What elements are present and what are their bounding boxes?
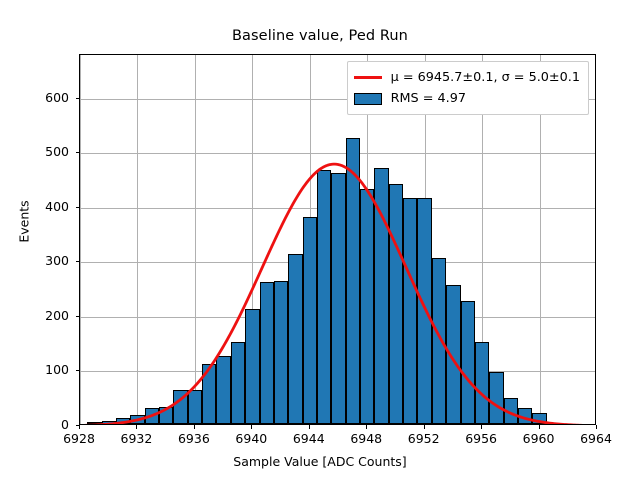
x-tick-mark [251, 425, 252, 429]
histogram-bar [102, 421, 116, 424]
x-tick-mark [136, 425, 137, 429]
x-tick-label: 6944 [279, 431, 339, 446]
histogram-bar [130, 415, 144, 424]
histogram-bar [461, 301, 475, 424]
x-tick-mark [79, 425, 80, 429]
page-title: Baseline value, Ped Run [0, 28, 640, 44]
line-swatch-icon [354, 76, 382, 79]
legend-item-histogram: RMS = 4.97 [354, 88, 580, 109]
histogram-bar [417, 198, 431, 424]
x-tick-mark [366, 425, 367, 429]
legend-label-histogram: RMS = 4.97 [391, 91, 466, 106]
x-axis-label: Sample Value [ADC Counts] [0, 454, 640, 469]
y-tick-mark [76, 370, 80, 371]
histogram-bar [475, 342, 489, 424]
x-tick-label: 6940 [221, 431, 281, 446]
histogram-bar [202, 364, 216, 424]
histogram-bar [518, 408, 532, 424]
legend: μ = 6945.7±0.1, σ = 5.0±0.1 RMS = 4.97 [347, 61, 589, 115]
y-tick-label: 100 [9, 362, 69, 377]
histogram-bar [274, 281, 288, 424]
x-tick-mark [539, 425, 540, 429]
legend-label-fit: μ = 6945.7±0.1, σ = 5.0±0.1 [391, 70, 580, 85]
x-tick-mark [194, 425, 195, 429]
x-tick-label: 6948 [336, 431, 396, 446]
x-tick-mark [424, 425, 425, 429]
histogram-bar [532, 413, 546, 424]
histogram-bar [145, 408, 159, 424]
histogram-bar [245, 309, 259, 424]
y-tick-label: 0 [9, 417, 69, 432]
histogram-bar [489, 372, 503, 424]
x-tick-mark [309, 425, 310, 429]
x-tick-mark [596, 425, 597, 429]
histogram-bar [389, 184, 403, 424]
histogram-bar [432, 258, 446, 424]
histogram-bar [374, 168, 388, 424]
x-tick-label: 6932 [106, 431, 166, 446]
x-tick-label: 6936 [164, 431, 224, 446]
histogram-bar [231, 342, 245, 424]
y-tick-mark [76, 152, 80, 153]
y-tick-mark [76, 98, 80, 99]
y-tick-mark [76, 207, 80, 208]
histogram-bar [173, 390, 187, 424]
histogram-bar [317, 170, 331, 424]
y-tick-mark [76, 316, 80, 317]
histogram-bar [360, 189, 374, 424]
legend-item-fit: μ = 6945.7±0.1, σ = 5.0±0.1 [354, 67, 580, 88]
histogram-bar [159, 407, 173, 424]
histogram-bar [288, 254, 302, 424]
y-tick-mark [76, 425, 80, 426]
histogram-bar [216, 356, 230, 424]
x-tick-label: 6964 [566, 431, 626, 446]
figure-canvas: Baseline value, Ped Run μ = 6945.7±0.1, … [0, 0, 640, 480]
histogram-bar [188, 390, 202, 424]
y-tick-mark [76, 261, 80, 262]
plot-area: μ = 6945.7±0.1, σ = 5.0±0.1 RMS = 4.97 [79, 54, 596, 425]
histogram-bar [331, 173, 345, 424]
x-tick-label: 6952 [394, 431, 454, 446]
histogram-bar [403, 198, 417, 424]
histogram-bar [87, 422, 101, 424]
x-tick-label: 6956 [451, 431, 511, 446]
histogram-bar [504, 398, 518, 424]
histogram-bar [446, 285, 460, 424]
histogram-bar [260, 282, 274, 424]
x-tick-label: 6960 [509, 431, 569, 446]
x-tick-label: 6928 [49, 431, 109, 446]
histogram-bar [346, 138, 360, 424]
y-axis-label: Events [17, 92, 32, 352]
x-tick-mark [481, 425, 482, 429]
histogram-bar [303, 217, 317, 424]
patch-swatch-icon [354, 93, 382, 105]
histogram-bar [116, 418, 130, 424]
